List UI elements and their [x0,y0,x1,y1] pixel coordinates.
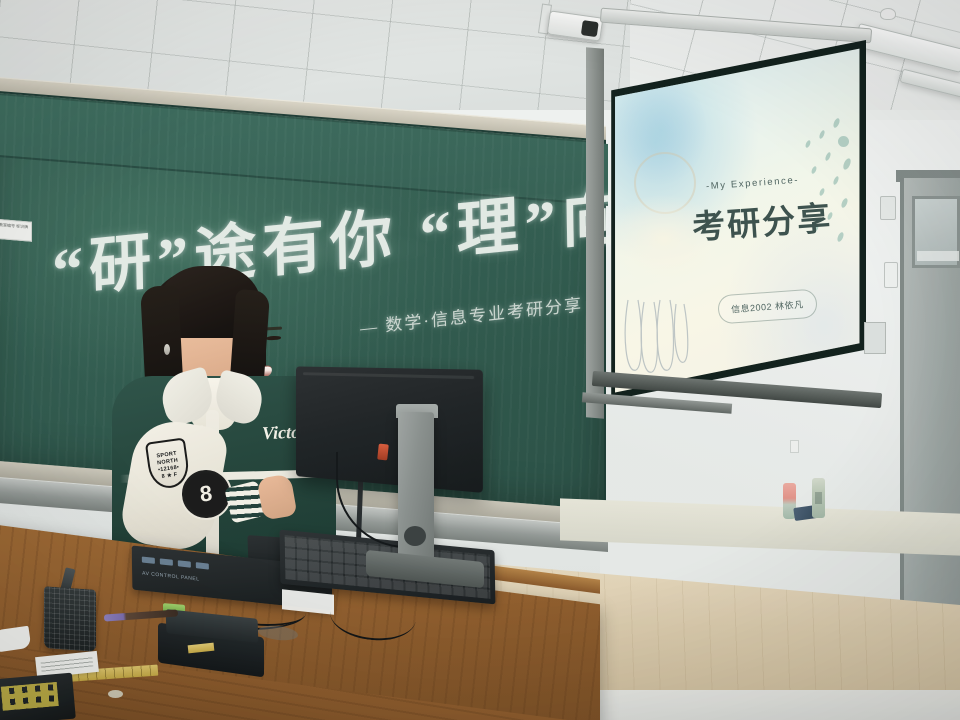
patch-line-4: 8 ★ F [161,471,178,479]
panel-indicator-lights [142,556,209,569]
blackboard-corner-label: 教室编号 标识牌 [0,219,32,242]
pen-holder-cup [44,586,96,652]
device-keypad[interactable] [1,682,59,711]
slide-title-text: 考研分享 [690,191,833,249]
projector-screen-assembly: -My Experience- 考研分享 信息2002 林依凡 [606,40,866,400]
blackboard-right-edge [586,47,604,418]
desk-device-box [0,673,76,720]
wall-device-upper [880,196,896,220]
wall-access-plate [864,322,886,354]
slide-decor-loops [622,296,692,378]
earring [164,344,170,355]
classroom-scene: 教室编号 标识牌 “研”途有你 “理”向未来 — 数学·信息专业考研分享 [0,0,960,720]
small-object [108,690,123,698]
sprinkler-icon [880,8,896,20]
slide-author-badge: 信息2002 林依凡 [717,289,817,325]
projector-screen-surface: -My Experience- 考研分享 信息2002 林依凡 [610,44,862,396]
water-bottle-green [812,478,825,518]
door-window [912,196,960,268]
wall-device-lower [884,262,898,288]
panel-label-text: AV CONTROL PANEL [142,571,199,583]
monitor-stand: DELL [398,412,434,573]
monitor-cable-passthrough [404,526,426,546]
wall-outlet [790,440,799,453]
eye-right [266,336,281,341]
